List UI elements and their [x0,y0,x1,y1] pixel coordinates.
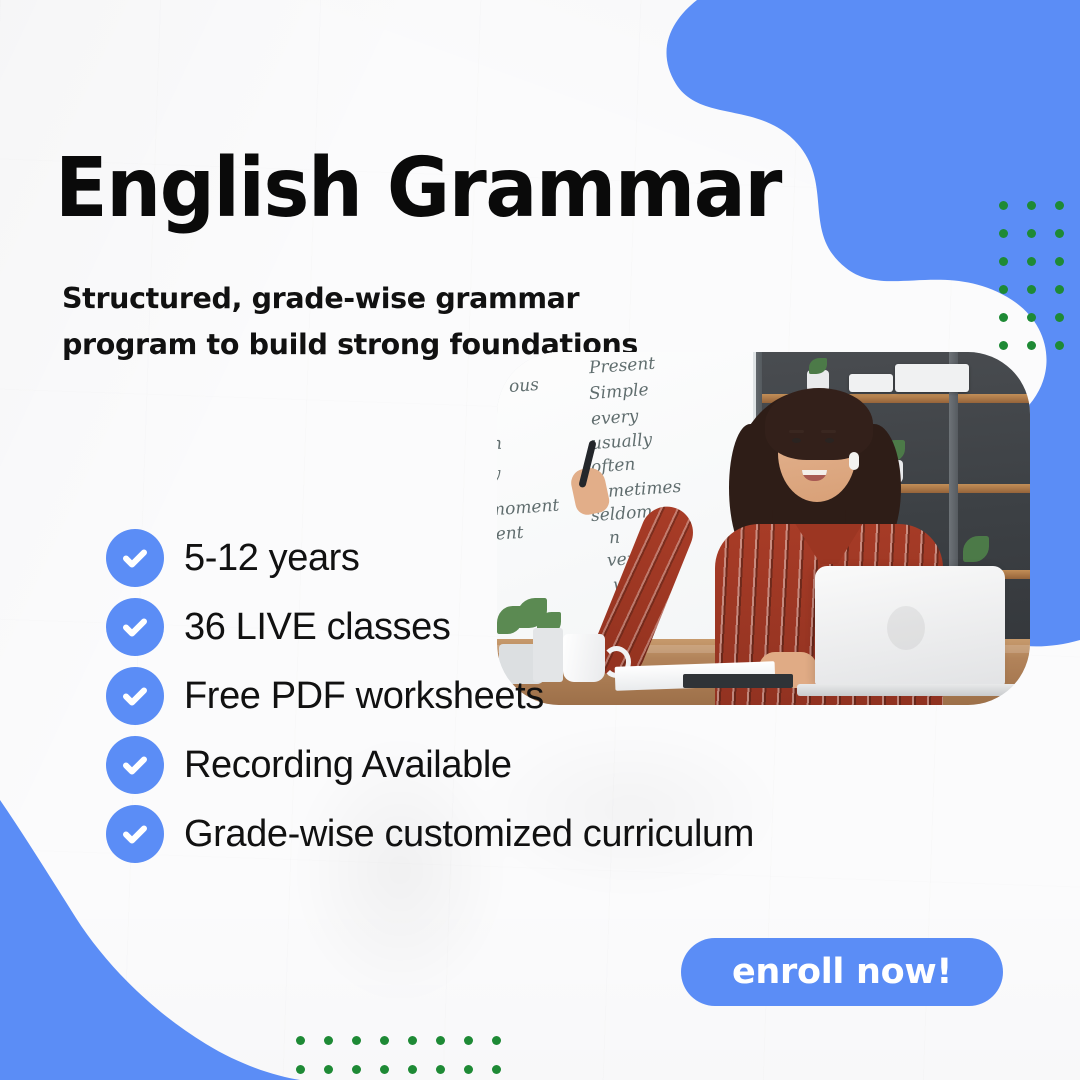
dot [464,1036,473,1045]
dot [464,1065,473,1074]
check-circle-icon [106,736,164,794]
list-item[interactable]: Free PDF worksheets [106,667,754,725]
dot [999,257,1008,266]
dot [1027,201,1036,210]
photo-teacher-earbud [849,452,859,470]
dot [1027,257,1036,266]
photo-shelf-box [895,364,969,392]
list-item[interactable]: 5-12 years [106,529,754,587]
photo-laptop-logo [887,606,925,650]
dot [1055,313,1064,322]
dot [1055,341,1064,350]
photo-teacher-teeth [802,470,827,475]
dot [408,1065,417,1074]
dot [999,341,1008,350]
dot-grid-bottom [296,1036,520,1080]
list-item-label: 36 LIVE classes [184,608,450,646]
dot [1027,341,1036,350]
list-item[interactable]: 36 LIVE classes [106,598,754,656]
list-item[interactable]: Recording Available [106,736,754,794]
dot [436,1065,445,1074]
dot [324,1036,333,1045]
dot [436,1036,445,1045]
dot [492,1036,501,1045]
dot [1055,201,1064,210]
dot [324,1065,333,1074]
photo-laptop-base [797,684,1021,696]
dot [999,229,1008,238]
dot [1055,285,1064,294]
dot [1055,257,1064,266]
feature-list: 5-12 years 36 LIVE classes Free PDF work… [106,529,754,874]
list-item[interactable]: Grade-wise customized curriculum [106,805,754,863]
photo-teacher-hair [765,388,873,460]
photo-laptop [815,566,1005,686]
dot-grid-top-right [999,201,1080,369]
photo-teacher-brow [821,430,836,433]
dot [380,1036,389,1045]
page-title: English Grammar [55,148,781,230]
check-circle-icon [106,805,164,863]
dot [999,285,1008,294]
poster-canvas: English Grammar Structured, grade-wise g… [0,0,1080,1080]
photo-teacher-eye [825,438,834,443]
check-circle-icon [106,529,164,587]
check-circle-icon [106,667,164,725]
photo-teacher-eye [792,438,801,443]
photo-shelf-box [849,374,893,392]
dot [999,313,1008,322]
dot [1055,229,1064,238]
list-item-label: Grade-wise customized curriculum [184,815,754,853]
dot [352,1065,361,1074]
list-item-label: Free PDF worksheets [184,677,544,715]
dot [352,1036,361,1045]
dot [999,201,1008,210]
dot [296,1036,305,1045]
list-item-label: Recording Available [184,746,512,784]
dot [408,1036,417,1045]
check-circle-icon [106,598,164,656]
dot [1027,313,1036,322]
subtitle-line-1: Structured, grade-wise grammar [62,276,638,322]
dot [492,1065,501,1074]
dot [1027,285,1036,294]
dot [1027,229,1036,238]
dot [296,1065,305,1074]
photo-teacher-brow [789,430,804,433]
list-item-label: 5-12 years [184,539,360,577]
dot [380,1065,389,1074]
enroll-now-label: enroll now! [732,952,952,992]
enroll-now-button[interactable]: enroll now! [681,938,1003,1006]
